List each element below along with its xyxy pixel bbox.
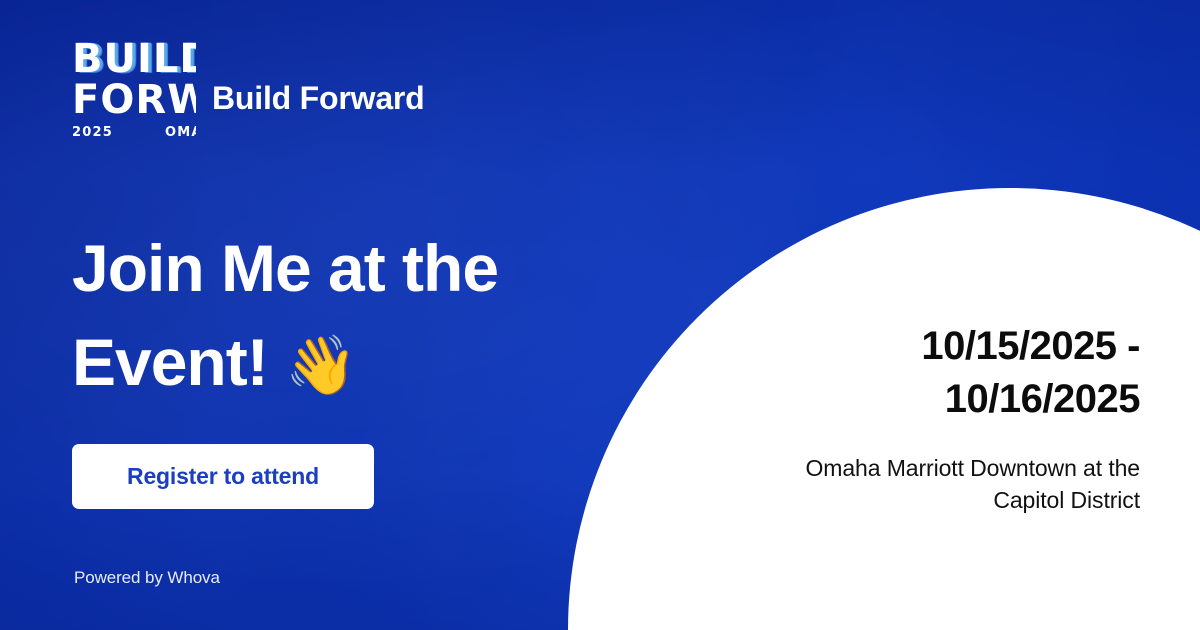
powered-by-label: Powered by Whova xyxy=(74,568,220,588)
left-content-column: BUILD FORWARD 2025 OMAHA Build Forward J… xyxy=(0,0,620,630)
event-venue-line-2: Capitol District xyxy=(700,484,1140,517)
brand-title: Build Forward xyxy=(212,80,425,117)
event-banner: BUILD FORWARD 2025 OMAHA Build Forward J… xyxy=(0,0,1200,630)
logo-subline: 2025 OMAHA xyxy=(72,126,196,139)
page-title: Join Me at the Event! 👋 xyxy=(72,222,632,409)
waving-hand-icon: 👋 xyxy=(285,331,356,399)
logo-year: 2025 xyxy=(72,126,113,139)
event-date: 10/15/2025 - 10/16/2025 xyxy=(700,320,1140,426)
logo-mark: BUILD FORWARD 2025 OMAHA xyxy=(72,39,196,139)
register-to-attend-button[interactable]: Register to attend xyxy=(72,444,374,509)
logo-line-build: BUILD xyxy=(72,39,196,79)
event-date-line-2: 10/16/2025 xyxy=(700,373,1140,426)
headline-line-2-wrapper: Event! 👋 xyxy=(72,316,632,410)
headline-line-2: Event! xyxy=(72,325,268,399)
event-date-line-1: 10/15/2025 - xyxy=(700,320,1140,373)
logo-city: OMAHA xyxy=(165,126,196,139)
build-forward-logo: BUILD FORWARD 2025 OMAHA xyxy=(72,39,196,157)
event-venue: Omaha Marriott Downtown at the Capitol D… xyxy=(700,452,1140,517)
event-venue-line-1: Omaha Marriott Downtown at the xyxy=(700,452,1140,485)
event-details: 10/15/2025 - 10/16/2025 Omaha Marriott D… xyxy=(700,320,1140,517)
headline-line-1: Join Me at the xyxy=(72,222,632,316)
logo-line-forward: FORWARD xyxy=(72,80,196,120)
brand-row: BUILD FORWARD 2025 OMAHA Build Forward xyxy=(72,62,425,134)
